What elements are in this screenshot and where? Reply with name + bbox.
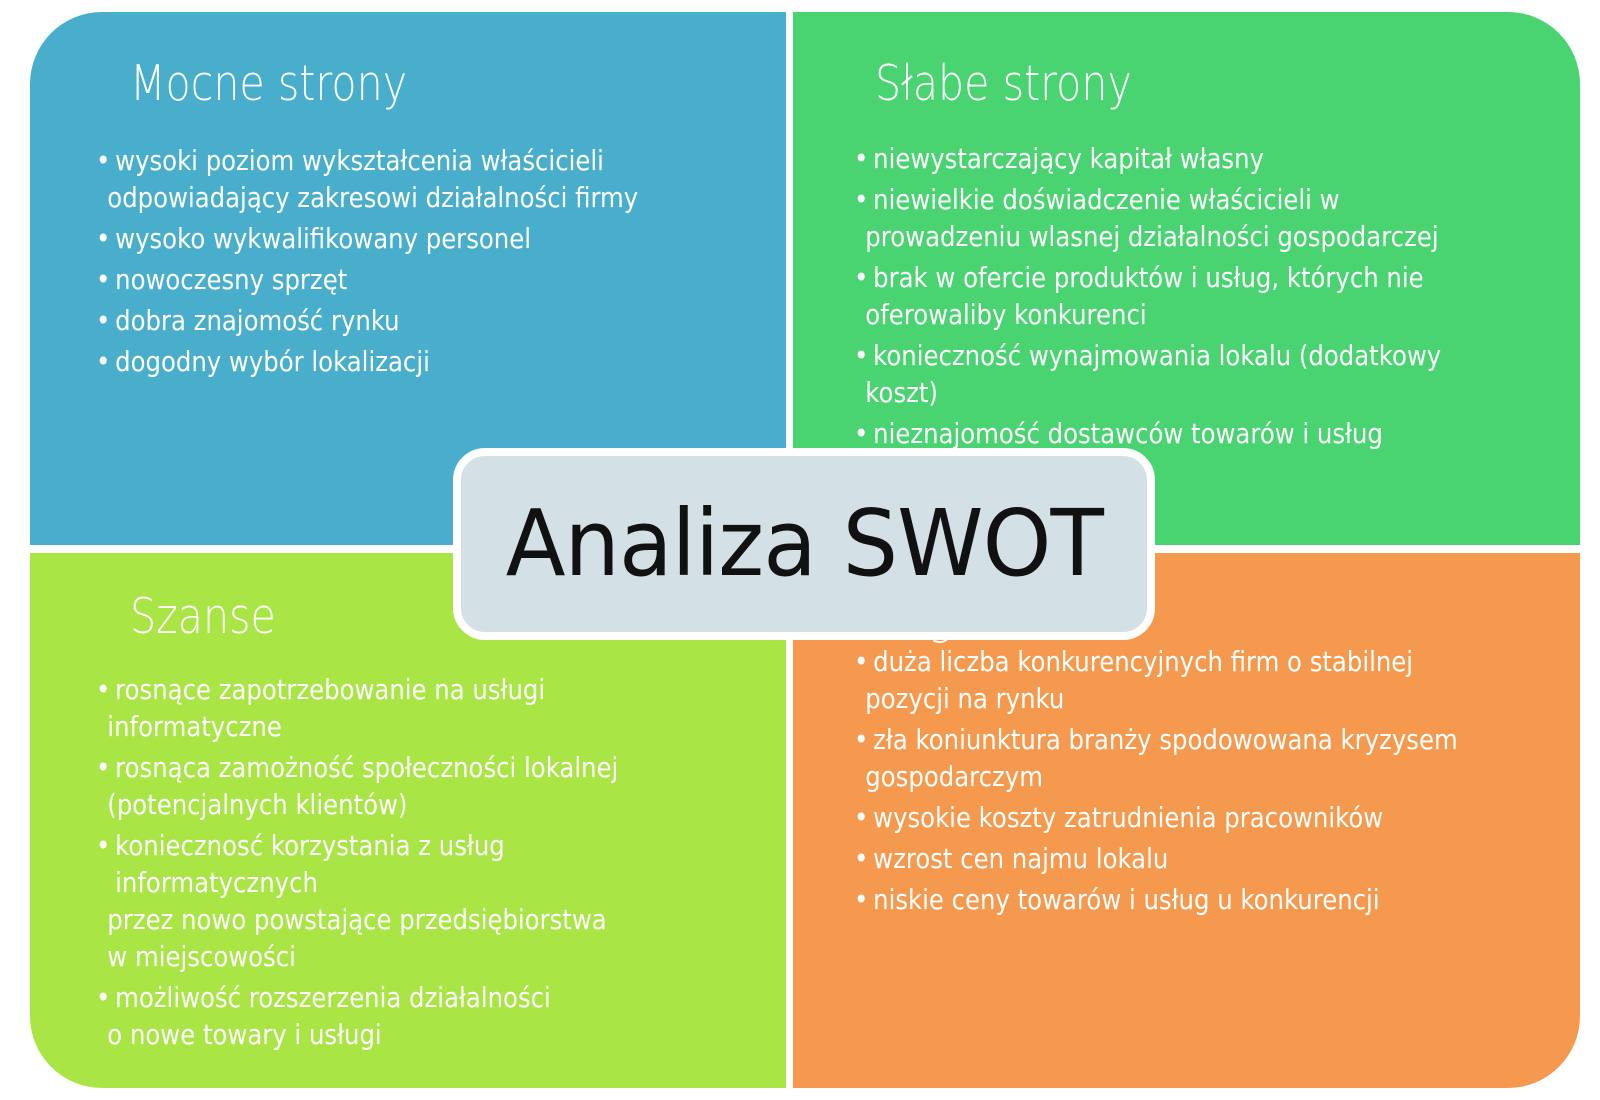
- center-title-text: Analiza SWOT: [505, 496, 1102, 592]
- list-item: dogodny wybór lokalizacji: [96, 343, 705, 380]
- list-item-line: brak w ofercie produktów i usług, któryc…: [873, 261, 1423, 294]
- list-item: niskie ceny towarów i usług u konkurencj…: [854, 881, 1463, 918]
- list-item-line: nieznajomość dostawców towarów i usług: [873, 417, 1383, 450]
- list-item: wysoko wykwalifikowany personel: [96, 220, 705, 257]
- quadrant-strengths-list: wysoki poziom wykształcenia właścicieli …: [96, 142, 786, 384]
- quadrant-opportunities-list: rosnące zapotrzebowanie na usługi inform…: [96, 671, 786, 1057]
- list-item-line: niewystarczający kapitał własny: [873, 142, 1264, 175]
- list-item-line: niskie ceny towarów i usług u konkurencj…: [873, 883, 1379, 916]
- list-item: nieznajomość dostawców towarów i usług: [854, 415, 1463, 452]
- list-item-line: gospodarczym: [865, 758, 1463, 795]
- list-item: rosnące zapotrzebowanie na usługi inform…: [96, 671, 705, 745]
- quadrant-opportunities-title: Szanse: [130, 589, 276, 645]
- list-item-line: konieczność wynajmowania lokalu (dodatko…: [873, 339, 1441, 372]
- list-item-line: koszt): [865, 374, 1463, 411]
- list-item-line: odpowiadający zakresowi działalności fir…: [107, 179, 705, 216]
- swot-diagram: Mocne strony wysoki poziom wykształcenia…: [0, 0, 1600, 1100]
- list-item-line: koniecznosć korzystania z usług informat…: [115, 829, 505, 899]
- list-item-line: informatyczne: [107, 708, 705, 745]
- list-item-line: dogodny wybór lokalizacji: [115, 345, 430, 378]
- list-item-line: pozycji na rynku: [865, 680, 1463, 717]
- list-item: niewielkie doświadczenie właścicieli w p…: [854, 181, 1463, 255]
- list-item: brak w ofercie produktów i usług, któryc…: [854, 259, 1463, 333]
- list-item-line: (potencjalnych klientów): [107, 786, 705, 823]
- quadrant-threats-list: duża liczba konkurencyjnych firm o stabi…: [854, 643, 1554, 922]
- list-item: rosnąca zamożność społeczności lokalnej …: [96, 749, 705, 823]
- list-item: niewystarczający kapitał własny: [854, 140, 1463, 177]
- list-item: duża liczba konkurencyjnych firm o stabi…: [854, 643, 1463, 717]
- list-item: konieczność wynajmowania lokalu (dodatko…: [854, 337, 1463, 411]
- list-item-line: o nowe towary i usługi: [107, 1016, 705, 1053]
- list-item-line: rosnąca zamożność społeczności lokalnej: [115, 751, 618, 784]
- list-item-line: zła koniunktura branży spodowowana kryzy…: [873, 723, 1458, 756]
- list-item-line: duża liczba konkurencyjnych firm o stabi…: [873, 645, 1413, 678]
- list-item: nowoczesny sprzęt: [96, 261, 705, 298]
- list-item-line: oferowaliby konkurenci: [865, 296, 1463, 333]
- list-item-line: rosnące zapotrzebowanie na usługi: [115, 673, 545, 706]
- list-item: koniecznosć korzystania z usług informat…: [96, 827, 705, 975]
- list-item: wysoki poziom wykształcenia właścicieli …: [96, 142, 705, 216]
- quadrant-weaknesses-title: Słabe strony: [875, 56, 1132, 112]
- list-item-line: niewielkie doświadczenie właścicieli w: [873, 183, 1339, 216]
- list-item: wzrost cen najmu lokalu: [854, 840, 1463, 877]
- list-item-line: wysoki poziom wykształcenia właścicieli: [115, 144, 604, 177]
- list-item: zła koniunktura branży spodowowana kryzy…: [854, 721, 1463, 795]
- list-item-line: dobra znajomość rynku: [115, 304, 399, 337]
- list-item-line: nowoczesny sprzęt: [115, 263, 347, 296]
- center-title-badge: Analiza SWOT: [453, 448, 1155, 640]
- quadrant-strengths-title: Mocne strony: [130, 56, 407, 112]
- list-item-line: prowadzeniu wlasnej działalności gospoda…: [865, 218, 1463, 255]
- list-item-line: wysoko wykwalifikowany personel: [115, 222, 531, 255]
- quadrant-weaknesses-list: niewystarczający kapitał własny niewielk…: [854, 140, 1554, 456]
- list-item-line: wzrost cen najmu lokalu: [873, 842, 1168, 875]
- list-item: wysokie koszty zatrudnienia pracowników: [854, 799, 1463, 836]
- list-item: dobra znajomość rynku: [96, 302, 705, 339]
- list-item-line: możliwość rozszerzenia działalności: [115, 981, 551, 1014]
- list-item-line: w miejscowości: [107, 938, 705, 975]
- list-item-line: przez nowo powstające przedsiębiorstwa: [107, 901, 705, 938]
- list-item: możliwość rozszerzenia działalności o no…: [96, 979, 705, 1053]
- list-item-line: wysokie koszty zatrudnienia pracowników: [873, 801, 1383, 834]
